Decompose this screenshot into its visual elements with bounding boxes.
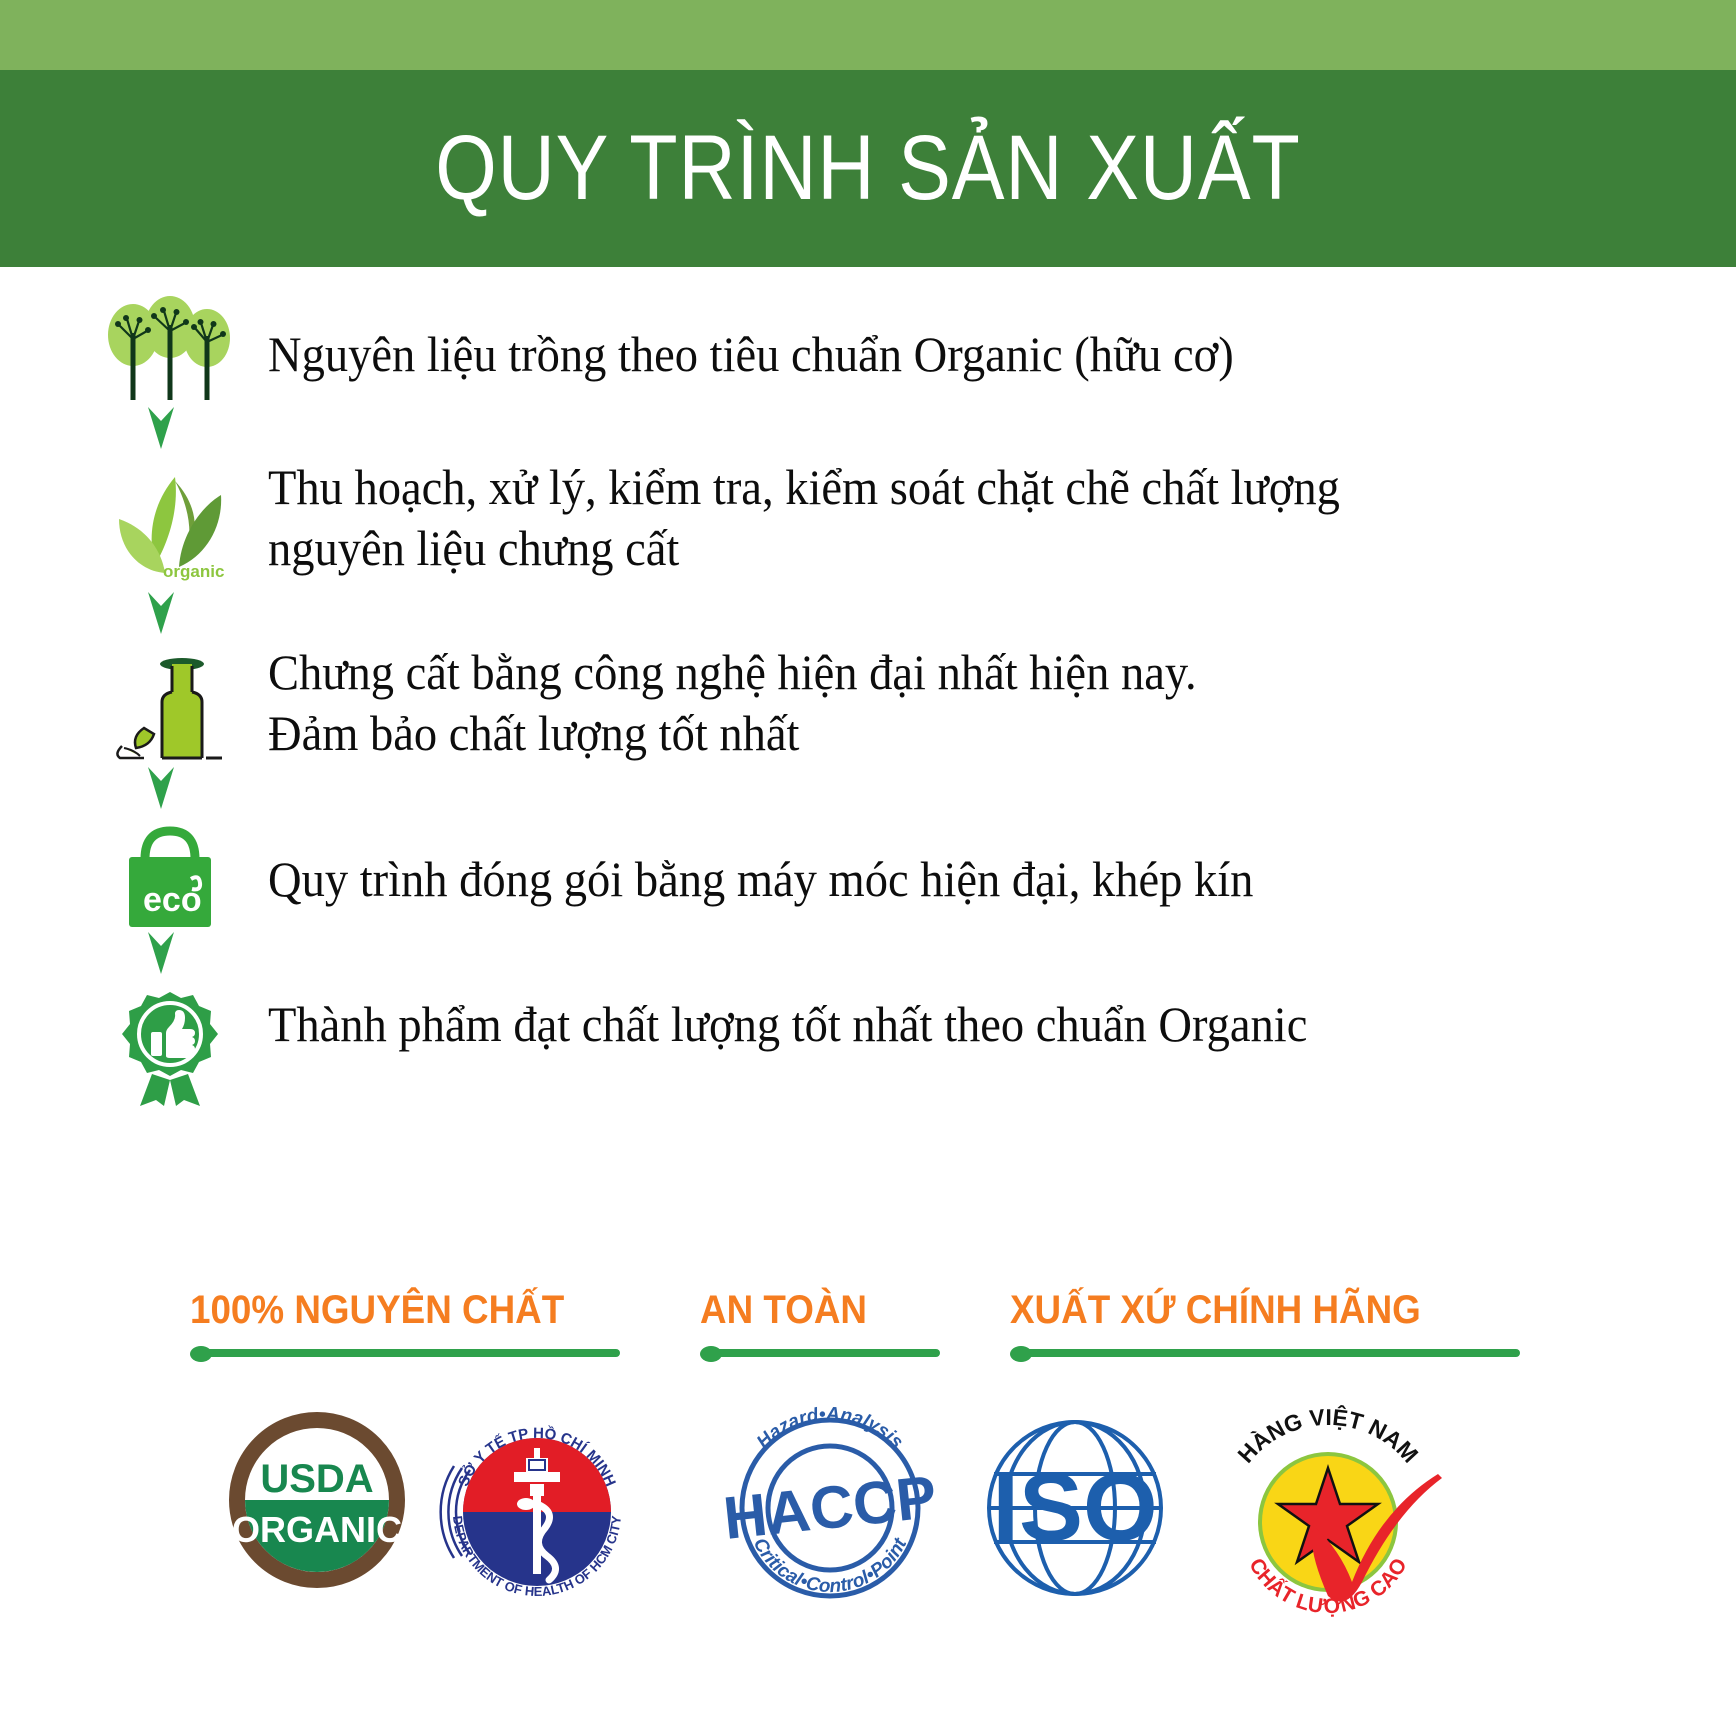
arrow-3-icon [140,767,182,819]
organic-leaves-icon: organic [103,469,238,581]
cert-usda-organic[interactable]: USDA ORGANIC [222,1400,412,1605]
header-light-band [0,0,1736,70]
feature-label-1: 100% NGUYÊN CHẤT [190,1290,595,1330]
usda-line2: ORGANIC [232,1509,402,1550]
cert-hang-viet-nam[interactable]: HÀNG VIỆT NAM CHẤT LƯỢNG CAO [1210,1400,1445,1635]
feature-rule-2 [700,1346,1020,1360]
feature-item-3[interactable]: XUẤT XỨ CHÍNH HÃNG [1010,1290,1540,1360]
feature-labels: 100% NGUYÊN CHẤT AN TOÀN XUẤT XỨ CHÍNH H… [0,1290,1736,1410]
step-1-text: Nguyên liệu trồng theo tiêu chuẩn Organi… [268,324,1589,385]
feature-bar-1 [200,1349,620,1357]
cert-department-of-health-hcmc[interactable]: SỞ Y TẾ TP HỒ CHÍ MINH DEPARTMENT OF HEA… [430,1400,645,1620]
arrow-2-icon [140,592,182,644]
step-3-icon-cell [95,652,245,767]
iso-main-text: ISO [992,1454,1157,1561]
cert-haccp[interactable]: HACCP Hazard•Analysis Critical•Control•P… [722,1400,937,1620]
step-3-text: Chưng cất bằng công nghệ hiện đại nhất h… [268,642,1589,764]
eco-bag-icon: eco [115,825,225,930]
arrow-4-icon [140,932,182,984]
feature-label-3: XUẤT XỨ CHÍNH HÃNG [1010,1290,1498,1330]
step-2-text: Thu hoạch, xử lý, kiểm tra, kiểm soát ch… [268,457,1589,579]
feature-bar-2 [710,1349,940,1357]
feature-dot-3 [1010,1346,1032,1362]
step-4-text: Quy trình đóng gói bằng máy móc hiện đại… [268,849,1589,910]
infographic-page: QUY TRÌNH SẢN XUẤT [0,0,1736,1724]
feature-rule-3 [1010,1346,1540,1360]
eco-bag-caption: eco [143,881,202,919]
haccp-main-text: HACCP [722,1463,937,1552]
page-title: QUY TRÌNH SẢN XUẤT [122,70,1615,267]
cert-iso[interactable]: ISO [960,1400,1190,1620]
feature-item-2[interactable]: AN TOÀN [700,1290,1020,1360]
organic-caption: organic [163,562,224,581]
feature-item-1[interactable]: 100% NGUYÊN CHẤT [190,1290,630,1360]
three-trees-icon [105,295,235,400]
feature-rule-1 [190,1346,630,1360]
quality-badge-thumbs-up-icon [110,988,230,1106]
oil-bottle-icon [110,654,230,766]
feature-label-2: AN TOÀN [700,1290,994,1330]
step-4-icon-cell: eco [95,825,245,930]
usda-line1: USDA [260,1457,373,1501]
step-5-icon-cell [95,987,245,1107]
step-5-text: Thành phẩm đạt chất lượng tốt nhất theo … [268,994,1589,1055]
feature-dot-1 [190,1346,212,1362]
feature-bar-3 [1020,1349,1520,1357]
certification-logos: USDA ORGANIC [0,1400,1736,1700]
feature-dot-2 [700,1346,722,1362]
step-1-icon-cell [95,292,245,402]
step-2-icon-cell: organic [95,467,245,582]
arrow-1-icon [140,407,182,459]
